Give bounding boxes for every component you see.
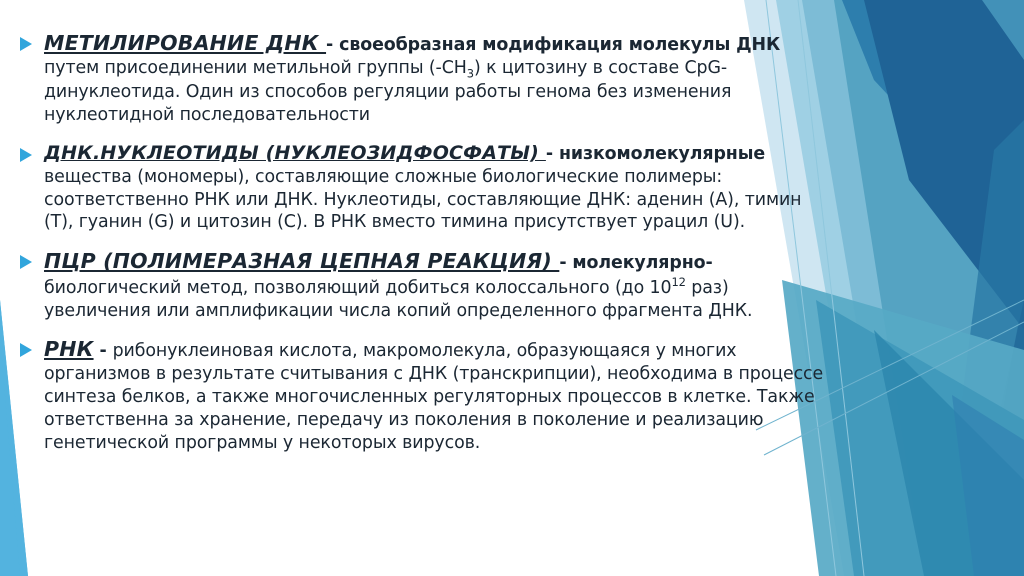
- slide-canvas: МЕТИЛИРОВАНИЕ ДНК - своеобразная модифик…: [0, 0, 1024, 576]
- triangle-bullet-icon: [18, 141, 44, 162]
- bullet-text: МЕТИЛИРОВАНИЕ ДНК - своеобразная модифик…: [44, 30, 824, 127]
- list-item: РНК - рибонуклеиновая кислота, макромоле…: [0, 336, 830, 454]
- term-label: РНК: [44, 337, 94, 361]
- term-dash: -: [326, 35, 339, 55]
- term-lead: своеобразная модификация молекулы ДНК: [339, 35, 780, 55]
- term-label: ДНК.НУКЛЕОТИДЫ (НУКЛЕОЗИДФОСФАТЫ): [44, 142, 546, 164]
- term-dash: -: [559, 253, 572, 273]
- term-lead: молекулярно-: [572, 253, 712, 273]
- list-item: ПЦР (ПОЛИМЕРАЗНАЯ ЦЕПНАЯ РЕАКЦИЯ) - моле…: [0, 248, 830, 322]
- triangle-bullet-icon: [18, 30, 44, 51]
- bullet-text: РНК - рибонуклеиновая кислота, макромоле…: [44, 336, 824, 454]
- term-lead: низкомолекулярные: [559, 144, 765, 164]
- superscript-twelve: 12: [671, 275, 685, 289]
- term-body-pre: путем присоединении метильной группы (-C…: [44, 58, 467, 78]
- term-label: МЕТИЛИРОВАНИЕ ДНК: [44, 31, 326, 55]
- term-label: ПЦР (ПОЛИМЕРАЗНАЯ ЦЕПНАЯ РЕАКЦИЯ): [44, 249, 559, 273]
- bullet-text: ПЦР (ПОЛИМЕРАЗНАЯ ЦЕПНАЯ РЕАКЦИЯ) - моле…: [44, 248, 824, 322]
- list-item: ДНК.НУКЛЕОТИДЫ (НУКЛЕОЗИДФОСФАТЫ) - низк…: [0, 141, 830, 234]
- subscript-three: 3: [467, 66, 474, 80]
- list-item: МЕТИЛИРОВАНИЕ ДНК - своеобразная модифик…: [0, 30, 830, 127]
- slide-content: МЕТИЛИРОВАНИЕ ДНК - своеобразная модифик…: [0, 0, 830, 576]
- term-body-pre: биологический метод, позволяющий добитьс…: [44, 278, 671, 298]
- triangle-bullet-icon: [18, 336, 44, 357]
- triangle-bullet-icon: [18, 248, 44, 269]
- bullet-text: ДНК.НУКЛЕОТИДЫ (НУКЛЕОЗИДФОСФАТЫ) - низк…: [44, 141, 824, 234]
- term-dash: -: [94, 341, 113, 361]
- term-body: рибонуклеиновая кислота, макромолекула, …: [44, 341, 823, 452]
- term-body: вещества (мономеры), составляющие сложны…: [44, 167, 801, 233]
- term-dash: -: [546, 144, 559, 164]
